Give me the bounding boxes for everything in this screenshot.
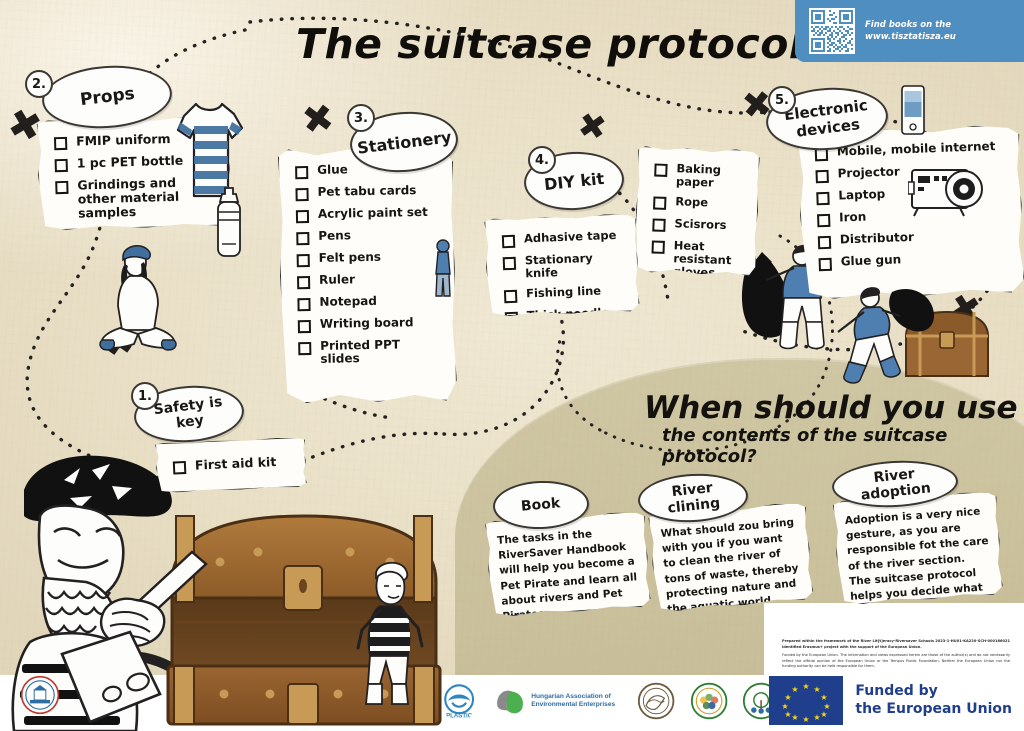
- riverside-schools-logo: [20, 675, 60, 715]
- checkbox-icon[interactable]: [653, 196, 666, 209]
- question-heading-line2: the contents of the suitcase protocol?: [662, 425, 1024, 467]
- list-item[interactable]: Distributor: [818, 228, 1008, 250]
- x-mark-icon: ✖: [300, 98, 337, 140]
- eu-funding-line2: the European Union: [855, 701, 1012, 719]
- checkbox-icon[interactable]: [815, 170, 828, 183]
- list-item[interactable]: Pet tabu cards: [295, 184, 438, 201]
- green-circle-emblem-logo: [690, 681, 728, 721]
- use-case-label-river-clining-text: River clining: [645, 477, 742, 519]
- section-number-1: 1.: [131, 382, 159, 410]
- list-item[interactable]: Pens: [296, 228, 439, 245]
- qr-banner[interactable]: Find books on the www.tisztatisza.eu: [795, 0, 1024, 62]
- checklist-stationery: Glue Pet tabu cards Acrylic paint set Pe…: [295, 162, 442, 367]
- checkbox-icon[interactable]: [297, 298, 310, 311]
- sitting-boy-illustration: [354, 556, 426, 708]
- list-item[interactable]: Fishing line: [504, 283, 624, 303]
- checkbox-icon[interactable]: [819, 258, 832, 271]
- list-item[interactable]: Thick needle: [505, 305, 625, 325]
- sitting-girl-illustration: [92, 236, 192, 356]
- checkbox-icon[interactable]: [297, 276, 310, 289]
- section-label-diy-kit-text: DIY kit: [543, 168, 605, 193]
- list-item[interactable]: Glue gun: [818, 250, 1008, 272]
- svg-text:PLASTIC: PLASTIC: [446, 713, 473, 720]
- use-case-label-river-adoption-text: River adoption: [839, 462, 952, 505]
- fineprint-paragraph-1: Prepared within the framework of the Riv…: [782, 639, 1010, 650]
- eu-flag-icon: ★ ★ ★ ★ ★ ★ ★ ★ ★ ★ ★ ★: [769, 676, 843, 725]
- checkbox-icon[interactable]: [651, 240, 664, 253]
- eu-funding-line1: Funded by: [855, 683, 1012, 701]
- checkbox-icon[interactable]: [816, 192, 829, 205]
- section-label-props-text: Props: [79, 84, 136, 111]
- checkbox-icon[interactable]: [55, 181, 68, 194]
- qr-banner-line1: Find books on the: [865, 19, 956, 31]
- checklist-note-baking: Baking paper Rope Scisrors Heat resistan…: [634, 146, 760, 276]
- checkbox-icon[interactable]: [296, 210, 309, 223]
- checklist-note-diy-kit: Adhasive tape Stationary knife Fishing l…: [484, 213, 640, 317]
- projector-illustration: [908, 160, 990, 222]
- checkbox-icon[interactable]: [817, 214, 830, 227]
- checkbox-icon[interactable]: [173, 461, 187, 475]
- list-item[interactable]: Notepad: [297, 294, 440, 311]
- x-mark-icon: ✖: [575, 108, 609, 146]
- hungarian-association-label: Hungarian Association of Environmental E…: [531, 693, 623, 709]
- fineprint-paragraph-2: Funded by the European Union. The inform…: [782, 653, 1010, 670]
- plastic-cup-logo: PLASTIC: [440, 681, 478, 721]
- checkbox-icon[interactable]: [502, 235, 515, 248]
- checkbox-icon[interactable]: [55, 159, 68, 172]
- list-item[interactable]: Heat resistant gloves: [651, 238, 742, 280]
- checkbox-icon[interactable]: [818, 236, 831, 249]
- partner-logos-row: PLASTIC Hungarian Association of Environ…: [440, 675, 780, 727]
- section-number-4: 4.: [528, 146, 556, 174]
- list-item[interactable]: Ruler: [297, 272, 440, 289]
- qr-banner-line2: www.tisztatisza.eu: [865, 31, 956, 43]
- checkbox-icon[interactable]: [298, 342, 311, 355]
- climbing-figure-illustration: [430, 238, 456, 304]
- checkbox-icon[interactable]: [295, 166, 308, 179]
- section-number-3: 3.: [347, 104, 375, 132]
- eu-funding-text: Funded by the European Union: [855, 683, 1012, 718]
- notebook-illustration: [56, 628, 166, 728]
- list-item[interactable]: Acrylic paint set: [296, 206, 439, 223]
- question-heading-line1: When should you use: [644, 390, 1018, 426]
- list-item[interactable]: Stationary knife: [503, 251, 624, 281]
- checkbox-icon[interactable]: [505, 311, 518, 324]
- checklist-safety: First aid kit: [173, 454, 292, 474]
- mobile-phone-illustration: [900, 84, 926, 136]
- list-item[interactable]: Printed PPT slides: [298, 338, 441, 367]
- checklist-diy-kit: Adhasive tape Stationary knife Fishing l…: [502, 229, 625, 325]
- spray-bottle-illustration: [210, 186, 248, 262]
- checkbox-icon[interactable]: [296, 232, 309, 245]
- map-emblem-logo: [637, 681, 675, 721]
- list-item[interactable]: Scisrors: [652, 216, 742, 234]
- qr-banner-text: Find books on the www.tisztatisza.eu: [865, 19, 956, 44]
- list-item[interactable]: Writing board: [298, 316, 441, 333]
- checkbox-icon[interactable]: [298, 320, 311, 333]
- list-item[interactable]: Rope: [653, 194, 743, 212]
- list-item[interactable]: First aid kit: [173, 454, 292, 474]
- list-item[interactable]: Adhasive tape: [502, 229, 622, 249]
- checkbox-icon[interactable]: [504, 289, 517, 302]
- page-title: The suitcase protocol: [296, 20, 803, 68]
- list-item[interactable]: Baking paper: [654, 161, 745, 190]
- checkbox-icon[interactable]: [297, 254, 310, 267]
- boy-carrying-bag-illustration: [836, 284, 946, 388]
- hungarian-association-logo: Hungarian Association of Environmental E…: [492, 682, 623, 720]
- poster-canvas: ✖ ✖ ✖ ✖ ✖ ✖ The suitcase protocol: [0, 0, 1024, 731]
- checklist-note-safety: First aid kit: [155, 437, 307, 493]
- eu-funding-logo: ★ ★ ★ ★ ★ ★ ★ ★ ★ ★ ★ ★ Funded by the Eu…: [769, 676, 1012, 725]
- checkbox-icon[interactable]: [295, 188, 308, 201]
- section-label-stationery-text: Stationery: [356, 127, 452, 157]
- qr-code-icon[interactable]: [809, 8, 855, 54]
- list-item[interactable]: Felt pens: [297, 250, 440, 267]
- checkbox-icon[interactable]: [652, 218, 665, 231]
- checkbox-icon[interactable]: [503, 257, 516, 270]
- section-number-5: 5.: [768, 86, 796, 114]
- use-case-label-book-text: Book: [521, 495, 561, 514]
- section-number-2: 2.: [25, 70, 53, 98]
- fineprint-block: Prepared within the framework of the Riv…: [782, 639, 1010, 673]
- checkbox-icon[interactable]: [654, 163, 667, 176]
- checklist-baking: Baking paper Rope Scisrors Heat resistan…: [651, 161, 745, 279]
- use-case-note-book: The tasks in the RiverSaver Handbook wil…: [485, 511, 651, 618]
- use-case-note-river-adoption: Adoption is a very nice gesture, as you …: [833, 490, 1004, 605]
- checkbox-icon[interactable]: [54, 137, 67, 150]
